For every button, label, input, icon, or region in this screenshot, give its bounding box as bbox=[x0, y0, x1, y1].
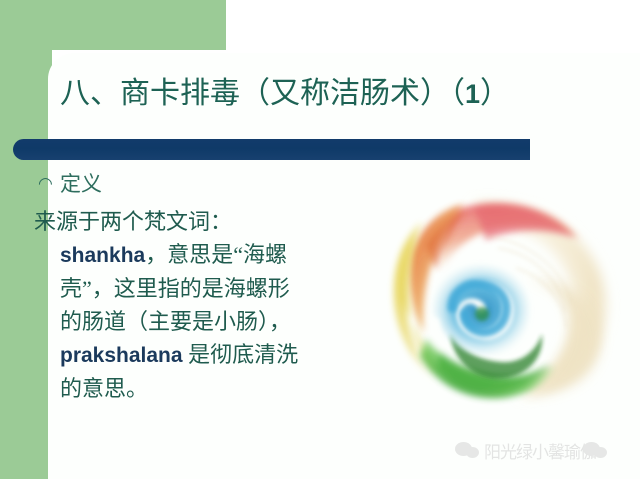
slide-title-text: 八、商卡排毒（又称洁肠术）（ bbox=[60, 77, 465, 110]
wechat-logo-icon-secondary bbox=[583, 440, 607, 460]
body-line-6: 的意思。 bbox=[34, 372, 354, 405]
slide-title-number: 1 bbox=[465, 79, 480, 109]
green-top-block bbox=[0, 0, 226, 50]
wechat-logo-icon bbox=[455, 440, 481, 460]
watermark-text: 阳光绿小馨瑜伽 bbox=[484, 438, 596, 463]
body-line-1: 来源于两个梵文词： bbox=[34, 205, 354, 238]
body-line-3: 壳”，这里指的是海螺形 bbox=[34, 272, 354, 305]
slide-title-suffix: ） bbox=[480, 77, 510, 110]
slide-title: 八、商卡排毒（又称洁肠术）（1） bbox=[60, 74, 630, 114]
definition-bullet-row: ◠定义 bbox=[38, 169, 368, 199]
presentation-slide: 八、商卡排毒（又称洁肠术）（1） ◠定义 来源于两个梵文词： shankha，意… bbox=[0, 0, 640, 479]
channel-watermark: 阳光绿小馨瑜伽 bbox=[455, 433, 630, 467]
definition-bullet-label: 定义 bbox=[60, 172, 102, 196]
sanskrit-term-shankha: shankha bbox=[60, 244, 145, 267]
body-line-5: prakshalana 是彻底清洗 bbox=[34, 338, 354, 372]
body-line-4: 的肠道（主要是小肠）， bbox=[34, 305, 354, 338]
wechat-bubble-small-2 bbox=[594, 447, 607, 458]
title-divider-bar bbox=[13, 139, 530, 160]
body-line-2-rest: ，意思是“海螺 bbox=[145, 242, 287, 267]
body-line-2: shankha，意思是“海螺 bbox=[34, 238, 354, 272]
wechat-bubble-small bbox=[466, 447, 479, 458]
arc-bullet-icon: ◠ bbox=[38, 169, 54, 199]
body-line-5-rest: 是彻底清洗 bbox=[183, 342, 299, 367]
sanskrit-term-prakshalana: prakshalana bbox=[60, 344, 183, 367]
rainbow-nautilus-shell-image bbox=[378, 188, 630, 416]
definition-body-text: 来源于两个梵文词： shankha，意思是“海螺 壳”，这里指的是海螺形 的肠道… bbox=[34, 205, 354, 405]
